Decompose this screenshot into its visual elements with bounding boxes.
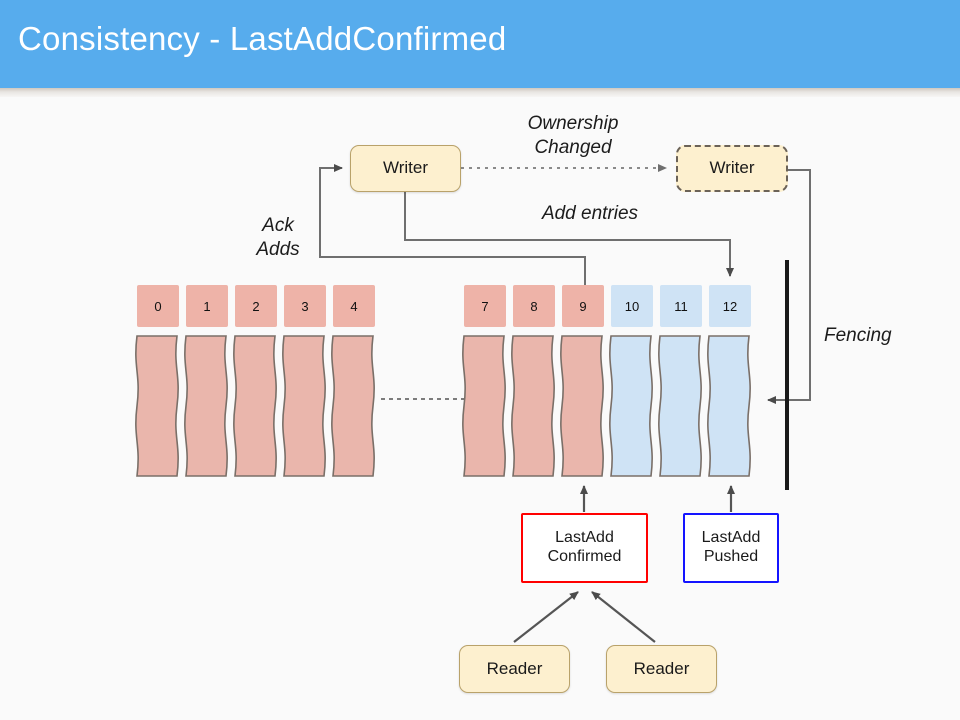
reader-right-label: Reader bbox=[634, 659, 690, 679]
writer-old-label: Writer bbox=[383, 158, 428, 178]
ledger-strip-blue[interactable] bbox=[705, 334, 753, 478]
ledger-strip-pink[interactable] bbox=[558, 334, 606, 478]
slide-canvas: Consistency - LastAddConfirmed bbox=[0, 0, 960, 720]
label-add-entries: Add entries bbox=[515, 202, 665, 226]
reader-right-node[interactable]: Reader bbox=[606, 645, 717, 693]
entry-index-box[interactable]: 11 bbox=[660, 285, 702, 327]
ledger-strip-pink[interactable] bbox=[329, 334, 377, 478]
label-fencing: Fencing bbox=[824, 324, 934, 348]
ledger-strip-blue[interactable] bbox=[607, 334, 655, 478]
label-ownership-changed: Ownership Changed bbox=[498, 112, 648, 161]
entry-index-box[interactable]: 0 bbox=[137, 285, 179, 327]
entry-index-box[interactable]: 7 bbox=[464, 285, 506, 327]
wire-fencing bbox=[768, 170, 810, 400]
lastadd-pushed-node[interactable]: LastAdd Pushed bbox=[683, 513, 779, 583]
reader-left-label: Reader bbox=[487, 659, 543, 679]
ledger-strip-pink[interactable] bbox=[133, 334, 181, 478]
lastadd-pushed-label: LastAdd Pushed bbox=[702, 529, 761, 567]
ledger-strip-pink[interactable] bbox=[460, 334, 508, 478]
entry-index-box[interactable]: 9 bbox=[562, 285, 604, 327]
label-ack-adds: Ack Adds bbox=[228, 214, 328, 263]
ledger-strip-pink[interactable] bbox=[231, 334, 279, 478]
fence-bar bbox=[785, 260, 789, 490]
ledger-strip-pink[interactable] bbox=[280, 334, 328, 478]
entry-index-box[interactable]: 3 bbox=[284, 285, 326, 327]
wire-reader-right-to-lac bbox=[592, 592, 655, 642]
ledger-strip-blue[interactable] bbox=[656, 334, 704, 478]
writer-new-node[interactable]: Writer bbox=[676, 145, 788, 192]
writer-old-node[interactable]: Writer bbox=[350, 145, 461, 192]
entry-index-box[interactable]: 4 bbox=[333, 285, 375, 327]
lastadd-confirmed-label: LastAdd Confirmed bbox=[548, 529, 622, 567]
ledger-strip-pink[interactable] bbox=[182, 334, 230, 478]
ledger-strip-pink[interactable] bbox=[509, 334, 557, 478]
entry-index-box[interactable]: 1 bbox=[186, 285, 228, 327]
writer-new-label: Writer bbox=[709, 158, 754, 178]
entry-index-box[interactable]: 12 bbox=[709, 285, 751, 327]
reader-left-node[interactable]: Reader bbox=[459, 645, 570, 693]
entry-index-box[interactable]: 2 bbox=[235, 285, 277, 327]
wire-reader-left-to-lac bbox=[514, 592, 578, 642]
entry-index-box[interactable]: 10 bbox=[611, 285, 653, 327]
lastadd-confirmed-node[interactable]: LastAdd Confirmed bbox=[521, 513, 648, 583]
entry-index-box[interactable]: 8 bbox=[513, 285, 555, 327]
